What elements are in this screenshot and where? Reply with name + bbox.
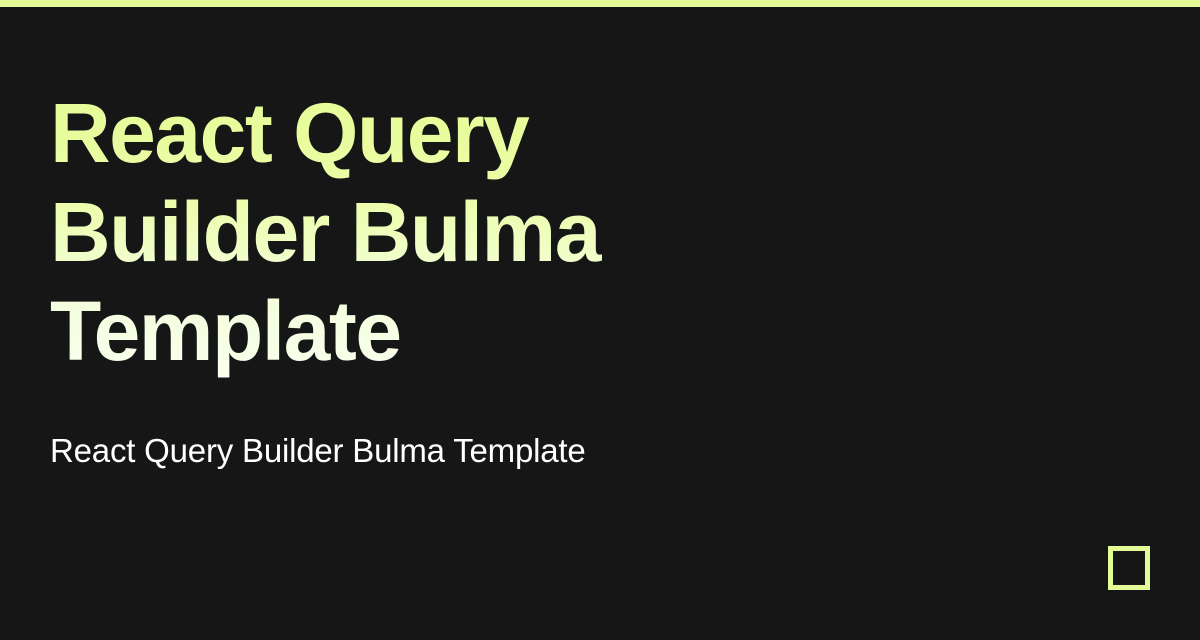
card-content: React Query Builder Bulma Template React…: [50, 84, 1110, 471]
page-subtitle: React Query Builder Bulma Template: [50, 381, 950, 471]
page-title: React Query Builder Bulma Template: [50, 84, 810, 381]
open-graph-card: React Query Builder Bulma Template React…: [0, 0, 1200, 640]
square-outline-icon: [1108, 546, 1150, 590]
accent-top-stripe: [0, 0, 1200, 7]
